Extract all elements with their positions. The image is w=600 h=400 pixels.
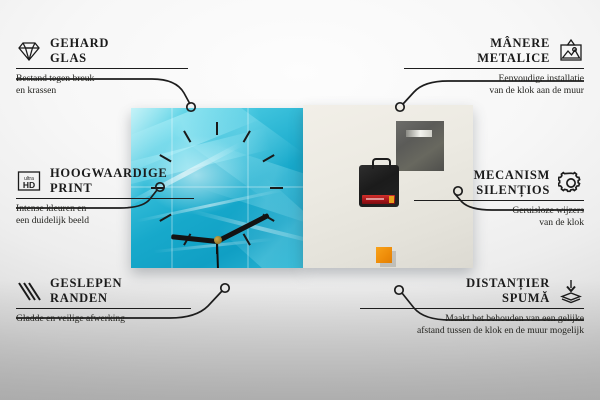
callout-description: Maakt het behouden van een gelijke afsta… — [360, 313, 584, 337]
callout-mecanism-silentios[interactable]: MECANISM SILENȚIOS Geruisloze wijzers va… — [414, 168, 584, 229]
callout-header: ultra HD HOOGWAARDIGE PRINT — [16, 166, 194, 195]
callout-rule — [16, 198, 194, 199]
callout-title: MÂNERE METALICE — [477, 36, 550, 65]
callout-rule — [414, 200, 584, 201]
callout-rule — [404, 68, 584, 69]
diamond-icon — [16, 38, 42, 64]
callout-rule — [16, 68, 188, 69]
picture-frame-hook-icon — [558, 38, 584, 64]
callout-rule — [360, 308, 584, 309]
hour-tick — [216, 122, 218, 135]
hour-tick — [270, 187, 283, 189]
callout-header: MÂNERE METALICE — [404, 36, 584, 65]
clock-center-cap — [214, 236, 222, 244]
callout-title: GESLEPEN RANDEN — [50, 276, 122, 305]
callout-description: Gladde en veilige afwerking — [16, 313, 191, 325]
svg-text:HD: HD — [23, 180, 35, 190]
callout-hoogwaardige-print[interactable]: ultra HD HOOGWAARDIGE PRINT Intense kleu… — [16, 166, 194, 227]
callout-description: Eenvoudige installatie van de klok aan d… — [404, 73, 584, 97]
callout-geslepen-randen[interactable]: GESLEPEN RANDEN Gladde en veilige afwerk… — [16, 276, 191, 325]
foam-spacer — [376, 247, 392, 263]
callout-manere-metalice[interactable]: MÂNERE METALICE Eenvoudige installatie v… — [404, 36, 584, 97]
hanger-slot — [406, 130, 432, 137]
battery — [362, 195, 395, 204]
callout-gehard-glas[interactable]: GEHARD GLAS Bestand tegen breuk en krass… — [16, 36, 188, 97]
mechanism-box — [359, 165, 399, 207]
callout-description: Intense kleuren en een duidelijk beeld — [16, 203, 194, 227]
callout-title: MECANISM SILENȚIOS — [474, 168, 550, 197]
callout-title: DISTANȚIER SPUMĂ — [466, 276, 550, 305]
callout-title: GEHARD GLAS — [50, 36, 109, 65]
callout-header: DISTANȚIER SPUMĂ — [360, 276, 584, 305]
battery-plus-terminal — [389, 196, 394, 203]
spacer-arrow-icon — [558, 278, 584, 304]
callout-header: GEHARD GLAS — [16, 36, 188, 65]
infographic-canvas: GEHARD GLAS Bestand tegen breuk en krass… — [0, 0, 600, 400]
hanger-plate — [396, 121, 444, 171]
callout-title: HOOGWAARDIGE PRINT — [50, 166, 167, 195]
clock-hour-hand — [171, 234, 217, 244]
gear-icon — [558, 170, 584, 196]
callout-rule — [16, 308, 191, 309]
mechanism-hanging-loop — [372, 158, 391, 169]
callout-description: Geruisloze wijzers van de klok — [414, 205, 584, 229]
callout-distantier-spuma[interactable]: DISTANȚIER SPUMĂ Maakt het behouden van … — [360, 276, 584, 337]
battery-stripe — [366, 198, 384, 200]
callout-header: MECANISM SILENȚIOS — [414, 168, 584, 197]
callout-description: Bestand tegen breuk en krassen — [16, 73, 188, 97]
callout-header: GESLEPEN RANDEN — [16, 276, 191, 305]
ultra-hd-icon: ultra HD — [16, 168, 42, 194]
beveled-edges-icon — [16, 278, 42, 304]
